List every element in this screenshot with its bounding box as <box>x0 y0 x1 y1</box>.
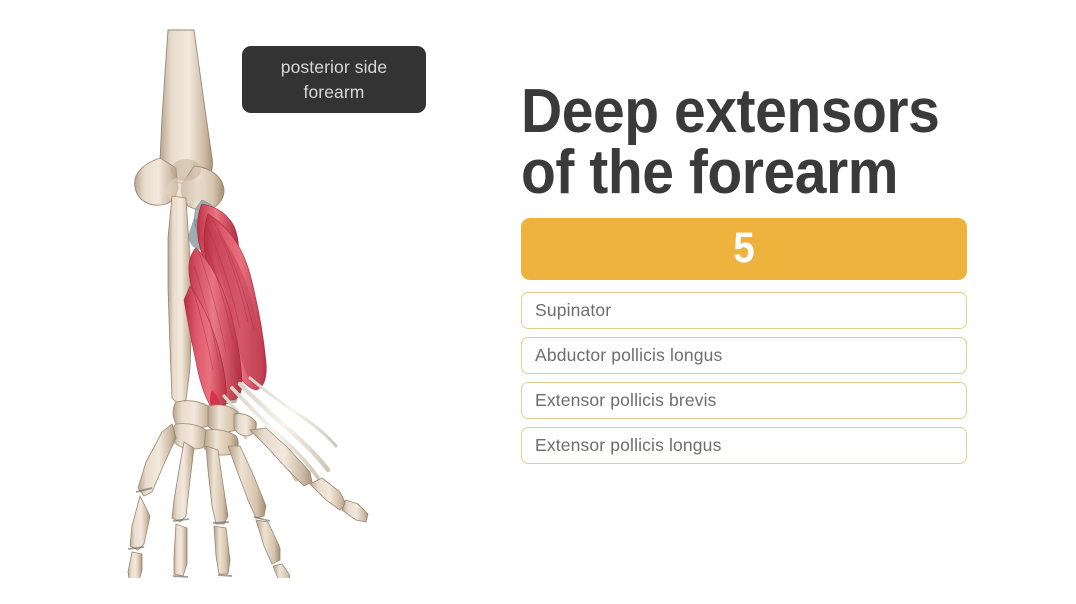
page-title: Deep extensors of the forearm <box>521 82 967 204</box>
list-item[interactable]: Extensor pollicis brevis <box>521 382 967 419</box>
list-item-label: Extensor pollicis brevis <box>535 390 717 411</box>
olecranon-fossa <box>171 159 201 181</box>
count-badge-number: 5 <box>733 227 755 270</box>
list-item-label: Supinator <box>535 300 611 321</box>
list-item[interactable]: Extensor pollicis longus <box>521 427 967 464</box>
list-item[interactable]: Supinator <box>521 292 967 329</box>
list-item[interactable]: Abductor pollicis longus <box>521 337 967 374</box>
list-item-label: Abductor pollicis longus <box>535 345 722 366</box>
callout-label-text: posterior side forearm <box>281 55 387 105</box>
content-panel: Deep extensors of the forearm 5 Supinato… <box>521 82 967 472</box>
muscle-list: Supinator Abductor pollicis longus Exten… <box>521 292 967 464</box>
slide-root: posterior side forearm Deep extensors of… <box>0 0 1076 604</box>
callout-label: posterior side forearm <box>242 46 426 113</box>
list-item-label: Extensor pollicis longus <box>535 435 721 456</box>
count-badge: 5 <box>521 218 967 280</box>
